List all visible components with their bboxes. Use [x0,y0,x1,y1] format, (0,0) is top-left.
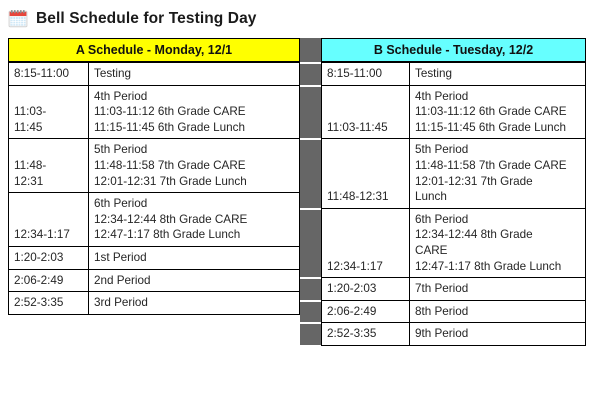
period-time-cell: 11:48-12:31 [322,139,410,208]
period-detail-line: 11:48-11:58 7th Grade CARE [415,158,581,174]
table-row: 11:48-12:315th Period11:48-11:58 7th Gra… [322,139,586,208]
period-detail-cell: Testing [410,63,586,86]
table-row: 8:15-11:00Testing [9,63,300,86]
period-time-cell: 12:34-1:17 [9,193,89,247]
period-detail-cell: 1st Period [89,246,300,269]
table-row: 12:34-1:176th Period12:34-12:44 8th Grad… [9,193,300,247]
period-time-cell: 2:52-3:35 [9,292,89,315]
divider-segment [300,302,321,323]
period-time-cell: 1:20-2:03 [322,278,410,301]
schedule-a-column: A Schedule - Monday, 12/1 8:15-11:00Test… [8,38,300,315]
period-time-line: 8:15-11:00 [14,66,84,82]
period-detail-line: 5th Period [94,142,295,158]
calendar-icon [8,9,28,29]
period-detail-line: 11:48-11:58 7th Grade CARE [94,158,295,174]
period-detail-line: 11:03-11:12 6th Grade CARE [415,104,581,120]
period-time-line: 11:03- [14,104,84,120]
table-row: 11:03-11:454th Period11:03-11:12 6th Gra… [9,85,300,139]
period-detail-line: 7th Period [415,281,581,297]
period-time-line: 11:45 [14,120,84,136]
divider-segment [300,324,321,345]
period-detail-line: 11:15-11:45 6th Grade Lunch [415,120,581,136]
period-detail-line: 12:47-1:17 8th Grade Lunch [94,227,295,243]
table-row: 8:15-11:00Testing [322,63,586,86]
period-detail-line: 12:01-12:31 7th Grade [415,174,581,190]
period-detail-line: 11:03-11:12 6th Grade CARE [94,104,295,120]
table-row: 12:34-1:176th Period12:34-12:44 8th Grad… [322,208,586,277]
period-time-line: 11:48- [14,158,84,174]
period-detail-cell: 3rd Period [89,292,300,315]
period-time-line: 11:48-12:31 [327,189,405,205]
schedule-b-column: B Schedule - Tuesday, 12/2 8:15-11:00Tes… [321,38,586,346]
period-detail-line: 4th Period [94,89,295,105]
period-detail-cell: 8th Period [410,300,586,323]
period-detail-line: 12:34-12:44 8th Grade CARE [94,212,295,228]
period-detail-line: 1st Period [94,250,295,266]
period-detail-cell: 6th Period12:34-12:44 8th GradeCARE12:47… [410,208,586,277]
period-time-line: 1:20-2:03 [14,250,84,266]
period-detail-cell: 7th Period [410,278,586,301]
schedule-b-table: 8:15-11:00Testing11:03-11:454th Period11… [321,62,586,346]
table-row: 1:20-2:031st Period [9,246,300,269]
period-time-line: 12:34-1:17 [327,259,405,275]
divider-segment [300,279,321,300]
period-detail-line: Lunch [415,189,581,205]
period-detail-line: 5th Period [415,142,581,158]
period-detail-line: 9th Period [415,326,581,342]
divider-segment [300,64,321,85]
schedule-container: A Schedule - Monday, 12/1 8:15-11:00Test… [8,38,586,346]
schedule-b-header: B Schedule - Tuesday, 12/2 [321,38,586,62]
period-detail-line: 2nd Period [94,273,295,289]
period-detail-cell: 4th Period11:03-11:12 6th Grade CARE11:1… [89,85,300,139]
table-row: 11:03-11:454th Period11:03-11:12 6th Gra… [322,85,586,139]
period-time-cell: 12:34-1:17 [322,208,410,277]
period-time-cell: 2:06-2:49 [9,269,89,292]
period-detail-line: Testing [94,66,295,82]
period-detail-cell: 5th Period11:48-11:58 7th Grade CARE12:0… [410,139,586,208]
period-detail-line: 12:47-1:17 8th Grade Lunch [415,259,581,275]
schedule-a-table: 8:15-11:00Testing11:03-11:454th Period11… [8,62,300,315]
period-time-cell: 1:20-2:03 [9,246,89,269]
period-detail-cell: 4th Period11:03-11:12 6th Grade CARE11:1… [410,85,586,139]
period-time-cell: 8:15-11:00 [9,63,89,86]
table-row: 2:52-3:359th Period [322,323,586,346]
period-detail-line: 8th Period [415,304,581,320]
period-detail-cell: Testing [89,63,300,86]
period-time-line: 8:15-11:00 [327,66,405,82]
divider-segment [300,38,321,62]
period-detail-cell: 6th Period12:34-12:44 8th Grade CARE12:4… [89,193,300,247]
period-detail-line: CARE [415,243,581,259]
period-detail-cell: 9th Period [410,323,586,346]
divider-segment [300,87,321,139]
page-title: Bell Schedule for Testing Day [36,10,257,28]
period-detail-line: 4th Period [415,89,581,105]
period-time-cell: 2:52-3:35 [322,323,410,346]
period-time-line: 2:52-3:35 [327,326,405,342]
period-time-line: 2:06-2:49 [327,304,405,320]
period-detail-cell: 5th Period11:48-11:58 7th Grade CARE12:0… [89,139,300,193]
page-header: Bell Schedule for Testing Day [8,6,257,32]
period-time-line: 2:52-3:35 [14,295,84,311]
period-time-line: 12:34-1:17 [14,227,84,243]
table-row: 11:48-12:315th Period11:48-11:58 7th Gra… [9,139,300,193]
period-detail-line: 3rd Period [94,295,295,311]
table-row: 2:06-2:498th Period [322,300,586,323]
period-time-cell: 8:15-11:00 [322,63,410,86]
period-detail-cell: 2nd Period [89,269,300,292]
period-time-cell: 11:03-11:45 [322,85,410,139]
period-detail-line: 11:15-11:45 6th Grade Lunch [94,120,295,136]
divider-segment [300,210,321,277]
divider-segment [300,140,321,207]
period-time-cell: 11:03-11:45 [9,85,89,139]
schedule-divider [300,38,321,345]
period-time-cell: 11:48-12:31 [9,139,89,193]
period-time-line: 1:20-2:03 [327,281,405,297]
period-time-line: 12:31 [14,174,84,190]
table-row: 2:06-2:492nd Period [9,269,300,292]
period-time-line: 2:06-2:49 [14,273,84,289]
schedule-a-header: A Schedule - Monday, 12/1 [8,38,300,62]
table-row: 1:20-2:037th Period [322,278,586,301]
period-detail-line: 6th Period [94,196,295,212]
period-detail-line: 12:34-12:44 8th Grade [415,227,581,243]
table-row: 2:52-3:353rd Period [9,292,300,315]
period-time-line: 11:03-11:45 [327,120,405,136]
period-detail-line: 12:01-12:31 7th Grade Lunch [94,174,295,190]
period-detail-line: Testing [415,66,581,82]
period-detail-line: 6th Period [415,212,581,228]
period-time-cell: 2:06-2:49 [322,300,410,323]
